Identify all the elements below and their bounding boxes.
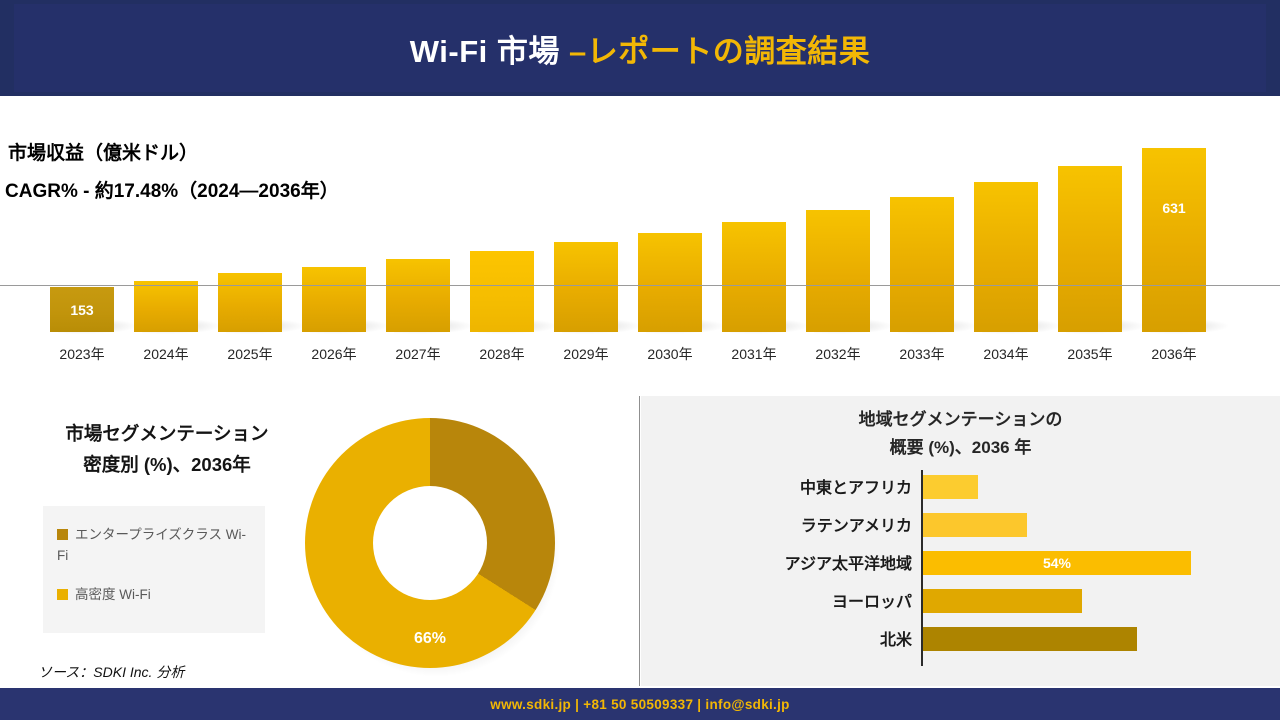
revenue-bar — [1058, 166, 1122, 332]
revenue-bar — [302, 267, 366, 332]
horizontal-divider — [0, 285, 1280, 286]
revenue-x-label: 2032年 — [802, 344, 874, 364]
revenue-x-label: 2030年 — [634, 344, 706, 364]
legend-item: 高密度 Wi-Fi — [57, 584, 257, 605]
footer-contact: www.sdki.jp | +81 50 50509337 | info@sdk… — [490, 697, 789, 712]
revenue-x-label: 2035年 — [1054, 344, 1126, 364]
revenue-x-label: 2036年 — [1138, 344, 1210, 364]
header-inner: Wi-Fi 市場 –レポートの調査結果 — [14, 4, 1266, 92]
revenue-bar — [134, 281, 198, 332]
revenue-bar — [554, 242, 618, 332]
revenue-x-label: 2031年 — [718, 344, 790, 364]
region-bar — [923, 589, 1082, 613]
segmentation-title: 市場セグメンテーション 密度別 (%)、2036年 — [12, 418, 322, 480]
region-bar — [923, 475, 978, 499]
revenue-chart-section: 市場収益（億米ドル） CAGR% - 約17.48%（2024―2036年） 1… — [0, 110, 1280, 392]
revenue-bar — [218, 273, 282, 332]
revenue-bar-value: 153 — [50, 302, 114, 318]
region-title: 地域セグメンテーションの 概要 (%)、2036 年 — [641, 406, 1280, 462]
page-title-main: Wi-Fi 市場 — [410, 34, 569, 69]
revenue-x-label: 2027年 — [382, 344, 454, 364]
revenue-x-label: 2023年 — [46, 344, 118, 364]
vertical-divider — [639, 396, 640, 686]
segmentation-title-line2: 密度別 (%)、2036年 — [12, 449, 322, 480]
revenue-bar — [1142, 148, 1206, 332]
header-band: Wi-Fi 市場 –レポートの調査結果 — [0, 0, 1280, 96]
page-title-accent: –レポートの調査結果 — [569, 34, 870, 69]
region-row: 北米 — [641, 622, 1280, 658]
region-row: ラテンアメリカ — [641, 508, 1280, 544]
revenue-bar — [386, 259, 450, 332]
region-label: 北米 — [681, 626, 912, 650]
legend-item-label: 高密度 Wi-Fi — [75, 587, 151, 602]
revenue-x-label: 2024年 — [130, 344, 202, 364]
revenue-bar-group: 2030年 — [638, 128, 710, 332]
region-title-line1: 地域セグメンテーションの — [641, 406, 1280, 434]
footer-band: www.sdki.jp | +81 50 50509337 | info@sdk… — [0, 688, 1280, 720]
donut-value-label: 66% — [305, 630, 555, 648]
revenue-bar-group: 2033年 — [890, 128, 962, 332]
source-note: ソース：SDKI Inc. 分析 — [38, 662, 184, 682]
revenue-x-label: 2029年 — [550, 344, 622, 364]
revenue-bar — [722, 222, 786, 332]
revenue-bar — [890, 197, 954, 332]
revenue-x-label: 2034年 — [970, 344, 1042, 364]
page-title: Wi-Fi 市場 –レポートの調査結果 — [410, 26, 870, 71]
region-row: ヨーロッパ — [641, 584, 1280, 620]
revenue-bar-group: 2031年 — [722, 128, 794, 332]
region-panel: 地域セグメンテーションの 概要 (%)、2036 年 中東とアフリカラテンアメリ… — [641, 396, 1280, 686]
region-bar-value: 54% — [923, 555, 1191, 571]
region-label: ラテンアメリカ — [681, 512, 912, 536]
revenue-x-label: 2028年 — [466, 344, 538, 364]
revenue-bar-group: 2034年 — [974, 128, 1046, 332]
legend-item: エンタープライズクラス Wi-Fi — [57, 524, 257, 566]
revenue-bar-group: 2026年 — [302, 128, 374, 332]
region-label: ヨーロッパ — [681, 588, 912, 612]
donut-chart: 66% — [305, 418, 561, 674]
revenue-bar-value: 631 — [1142, 200, 1206, 216]
revenue-bar-group: 2025年 — [218, 128, 290, 332]
revenue-bar — [974, 182, 1038, 332]
donut-hole — [373, 486, 487, 600]
revenue-bar-group: 2035年 — [1058, 128, 1130, 332]
region-label: アジア太平洋地域 — [681, 550, 912, 574]
revenue-bar-group: 6312036年 — [1142, 128, 1214, 332]
revenue-x-label: 2033年 — [886, 344, 958, 364]
region-title-line2: 概要 (%)、2036 年 — [641, 434, 1280, 462]
revenue-bar-group: 2024年 — [134, 128, 206, 332]
region-bar: 54% — [923, 551, 1191, 575]
region-label: 中東とアフリカ — [681, 474, 912, 498]
revenue-bar-group: 2028年 — [470, 128, 542, 332]
revenue-bars: 1532023年2024年2025年2026年2027年2028年2029年20… — [50, 128, 1230, 332]
revenue-bar-group: 2027年 — [386, 128, 458, 332]
revenue-bar — [806, 210, 870, 332]
legend-item-label: エンタープライズクラス Wi-Fi — [57, 527, 246, 563]
region-bar — [923, 513, 1027, 537]
segmentation-title-line1: 市場セグメンテーション — [12, 418, 322, 449]
revenue-bar-group: 1532023年 — [50, 128, 122, 332]
region-bars: 中東とアフリカラテンアメリカアジア太平洋地域54%ヨーロッパ北米 — [641, 470, 1280, 674]
region-bar — [923, 627, 1137, 651]
region-row: 中東とアフリカ — [641, 470, 1280, 506]
legend-swatch-icon — [57, 589, 68, 600]
revenue-x-label: 2025年 — [214, 344, 286, 364]
revenue-bar — [638, 233, 702, 332]
revenue-x-label: 2026年 — [298, 344, 370, 364]
revenue-bar — [470, 251, 534, 332]
region-row: アジア太平洋地域54% — [641, 546, 1280, 582]
legend-swatch-icon — [57, 529, 68, 540]
segmentation-legend: エンタープライズクラス Wi-Fi 高密度 Wi-Fi — [43, 506, 265, 633]
revenue-bar-group: 2029年 — [554, 128, 626, 332]
revenue-bar-group: 2032年 — [806, 128, 878, 332]
